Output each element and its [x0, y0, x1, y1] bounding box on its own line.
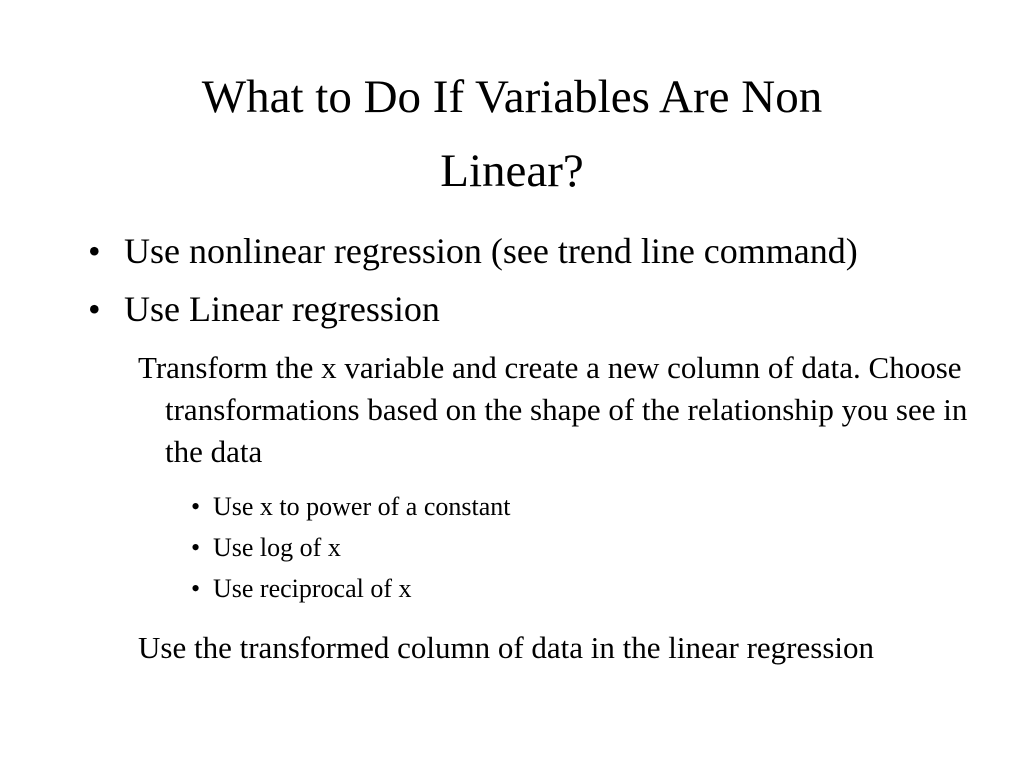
bullet-item-level1-1-label: Use nonlinear regression (see trend line…: [124, 231, 858, 271]
bullet-point-icon: •: [191, 568, 200, 609]
paragraph-use-transformed-column: Use the transformed column of data in th…: [74, 627, 975, 669]
bullet-item-level3-2: • Use log of x: [74, 527, 954, 568]
bullet-item-level1-1: • Use nonlinear regression (see trend li…: [74, 222, 954, 280]
slide-title-line-1: What to Do If Variables Are Non: [62, 60, 962, 134]
bullet-item-level3-1-label: Use x to power of a constant: [213, 492, 510, 521]
bullet-item-level3-3-label: Use reciprocal of x: [213, 574, 412, 603]
bullet-item-level3-2-label: Use log of x: [213, 533, 341, 562]
bullet-item-level1-2-label: Use Linear regression: [124, 289, 440, 329]
bullet-item-level3-1: • Use x to power of a constant: [74, 486, 954, 527]
bullet-item-level3-3: • Use reciprocal of x: [74, 568, 954, 609]
bullet-point-icon: •: [191, 527, 200, 568]
slide-canvas: What to Do If Variables Are Non Linear? …: [0, 0, 1024, 768]
bullet-list-level3: • Use x to power of a constant • Use log…: [74, 486, 954, 609]
paragraph-transform-instructions: Transform the x variable and create a ne…: [74, 347, 975, 473]
slide-body: • Use nonlinear regression (see trend li…: [74, 222, 954, 669]
bullet-point-icon: •: [191, 486, 200, 527]
slide-title: What to Do If Variables Are Non Linear?: [62, 60, 962, 208]
bullet-point-icon: •: [88, 222, 101, 280]
bullet-item-level1-2: • Use Linear regression: [74, 280, 954, 338]
slide-title-line-2: Linear?: [62, 134, 962, 208]
bullet-point-icon: •: [88, 280, 101, 338]
